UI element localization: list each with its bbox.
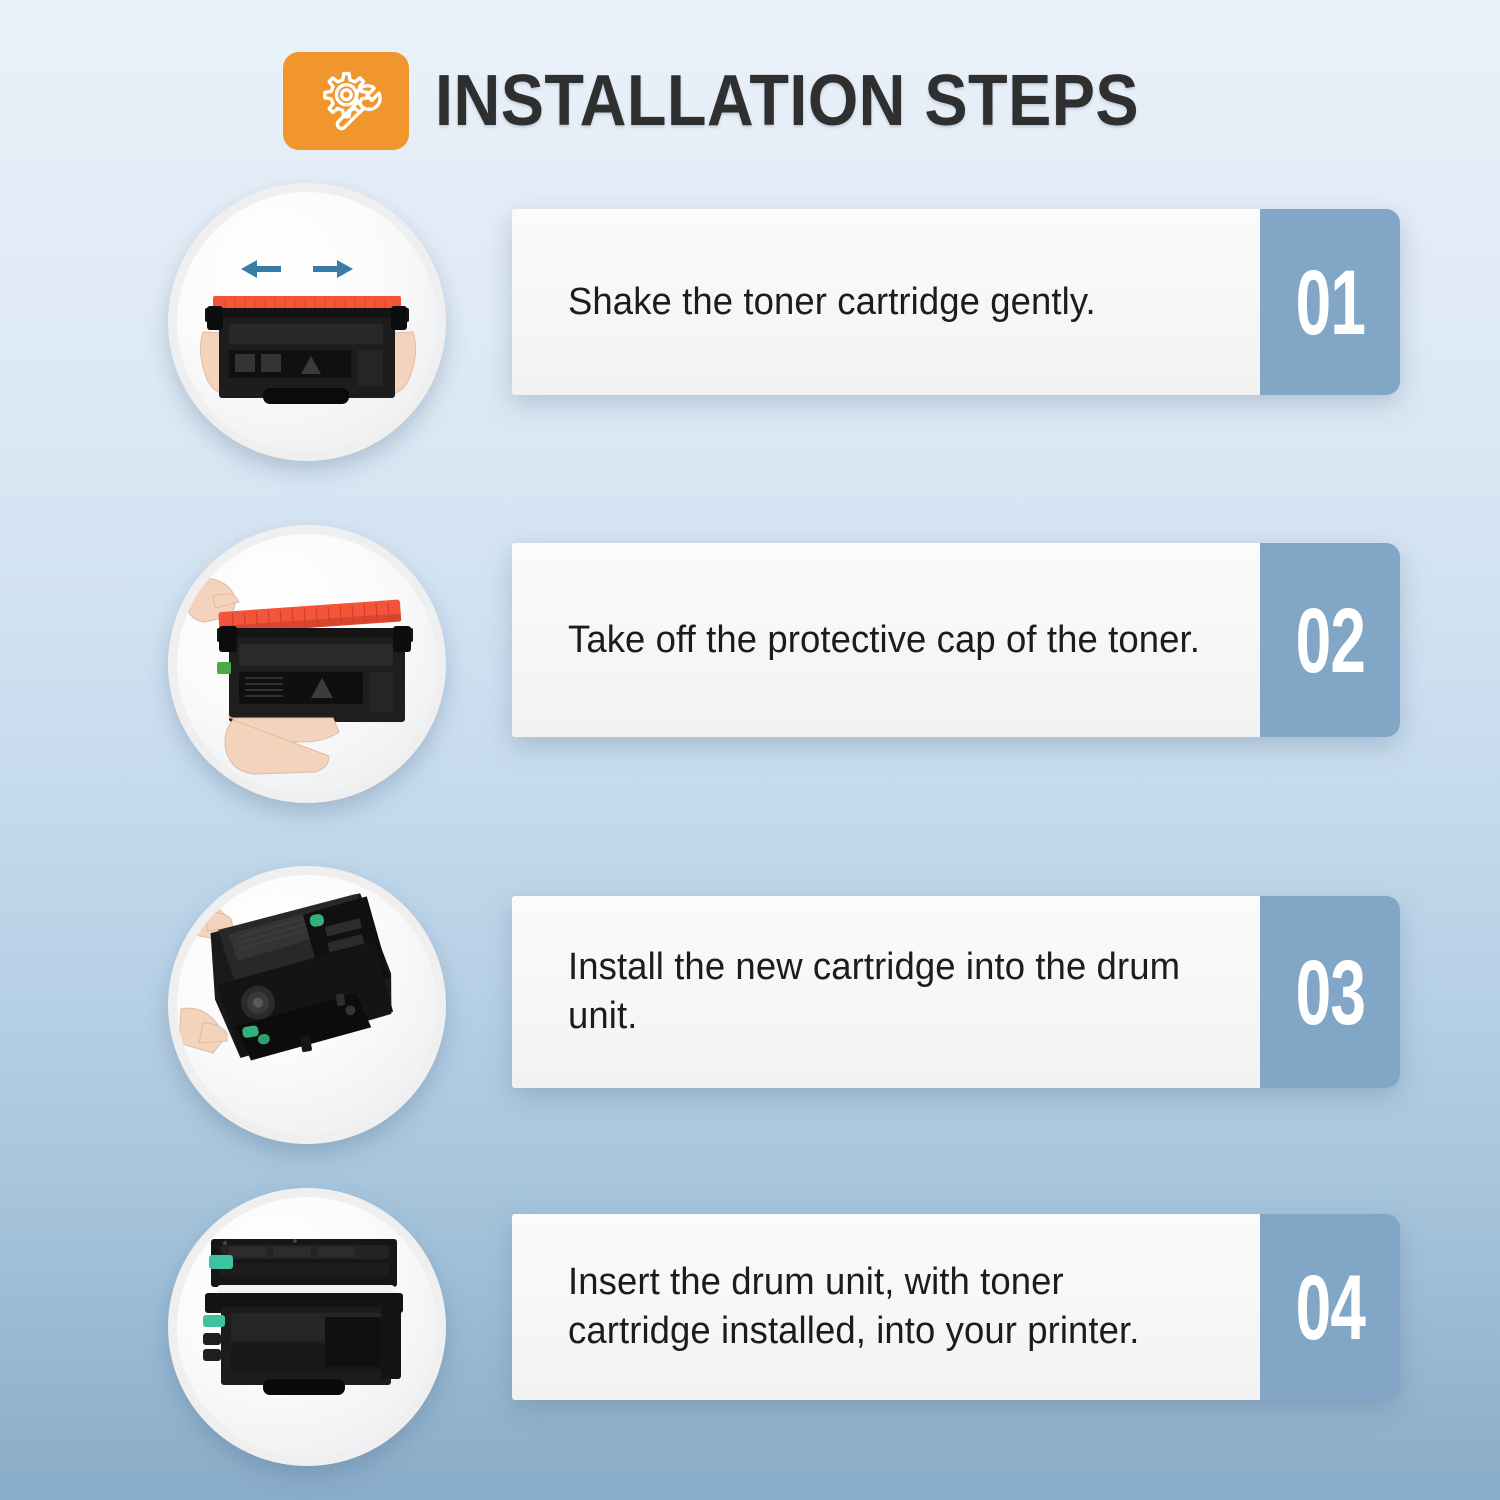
- step-number-2: 02: [1260, 543, 1400, 737]
- arrow-left-icon: [241, 260, 281, 278]
- page-header: INSTALLATION STEPS: [0, 46, 1500, 156]
- step-text-4: Insert the drum unit, with toner cartrid…: [568, 1258, 1204, 1355]
- step-row-4: Insert the drum unit, with toner cartrid…: [0, 1180, 1500, 1480]
- assembled-drum-unit-illustration: [177, 1197, 437, 1457]
- step-image-3-inner: [177, 875, 437, 1135]
- arrow-right-icon: [313, 260, 353, 278]
- step-text-3: Install the new cartridge into the drum …: [568, 943, 1204, 1040]
- step-card-2-body: Take off the protective cap of the toner…: [512, 543, 1260, 737]
- step-image-1: [168, 183, 446, 461]
- step-image-2-inner: [177, 534, 437, 794]
- step-card-3[interactable]: Install the new cartridge into the drum …: [512, 896, 1400, 1088]
- step-image-4-inner: [177, 1197, 437, 1457]
- step-card-1[interactable]: Shake the toner cartridge gently. 01: [512, 209, 1400, 395]
- step-number-4-label: 04: [1295, 1261, 1365, 1353]
- step-text-2: Take off the protective cap of the toner…: [568, 616, 1200, 665]
- step-number-3-label: 03: [1295, 946, 1365, 1038]
- step-number-1: 01: [1260, 209, 1400, 395]
- step-number-4: 04: [1260, 1214, 1400, 1400]
- step-number-1-label: 01: [1295, 256, 1365, 348]
- step-row-2: Take off the protective cap of the toner…: [0, 517, 1500, 817]
- step-card-2[interactable]: Take off the protective cap of the toner…: [512, 543, 1400, 737]
- step-image-2: [168, 525, 446, 803]
- step-card-1-body: Shake the toner cartridge gently.: [512, 209, 1260, 395]
- step-number-3: 03: [1260, 896, 1400, 1088]
- page-title: INSTALLATION STEPS: [435, 65, 1139, 137]
- step-row-1: Shake the toner cartridge gently. 01: [0, 175, 1500, 475]
- step-card-4[interactable]: Insert the drum unit, with toner cartrid…: [512, 1214, 1400, 1400]
- step-text-1: Shake the toner cartridge gently.: [568, 278, 1096, 327]
- gear-wrench-icon: [283, 52, 409, 150]
- step-image-3: [168, 866, 446, 1144]
- hand-removing-protective-cap-illustration: [177, 534, 437, 794]
- step-card-3-body: Install the new cartridge into the drum …: [512, 896, 1260, 1088]
- hands-installing-cartridge-into-drum-illustration: [177, 875, 437, 1135]
- step-image-1-inner: [177, 192, 437, 452]
- hands-shaking-toner-cartridge-illustration: [177, 192, 437, 452]
- step-image-4: [168, 1188, 446, 1466]
- step-card-4-body: Insert the drum unit, with toner cartrid…: [512, 1214, 1260, 1400]
- step-number-2-label: 02: [1295, 594, 1365, 686]
- step-row-3: Install the new cartridge into the drum …: [0, 858, 1500, 1158]
